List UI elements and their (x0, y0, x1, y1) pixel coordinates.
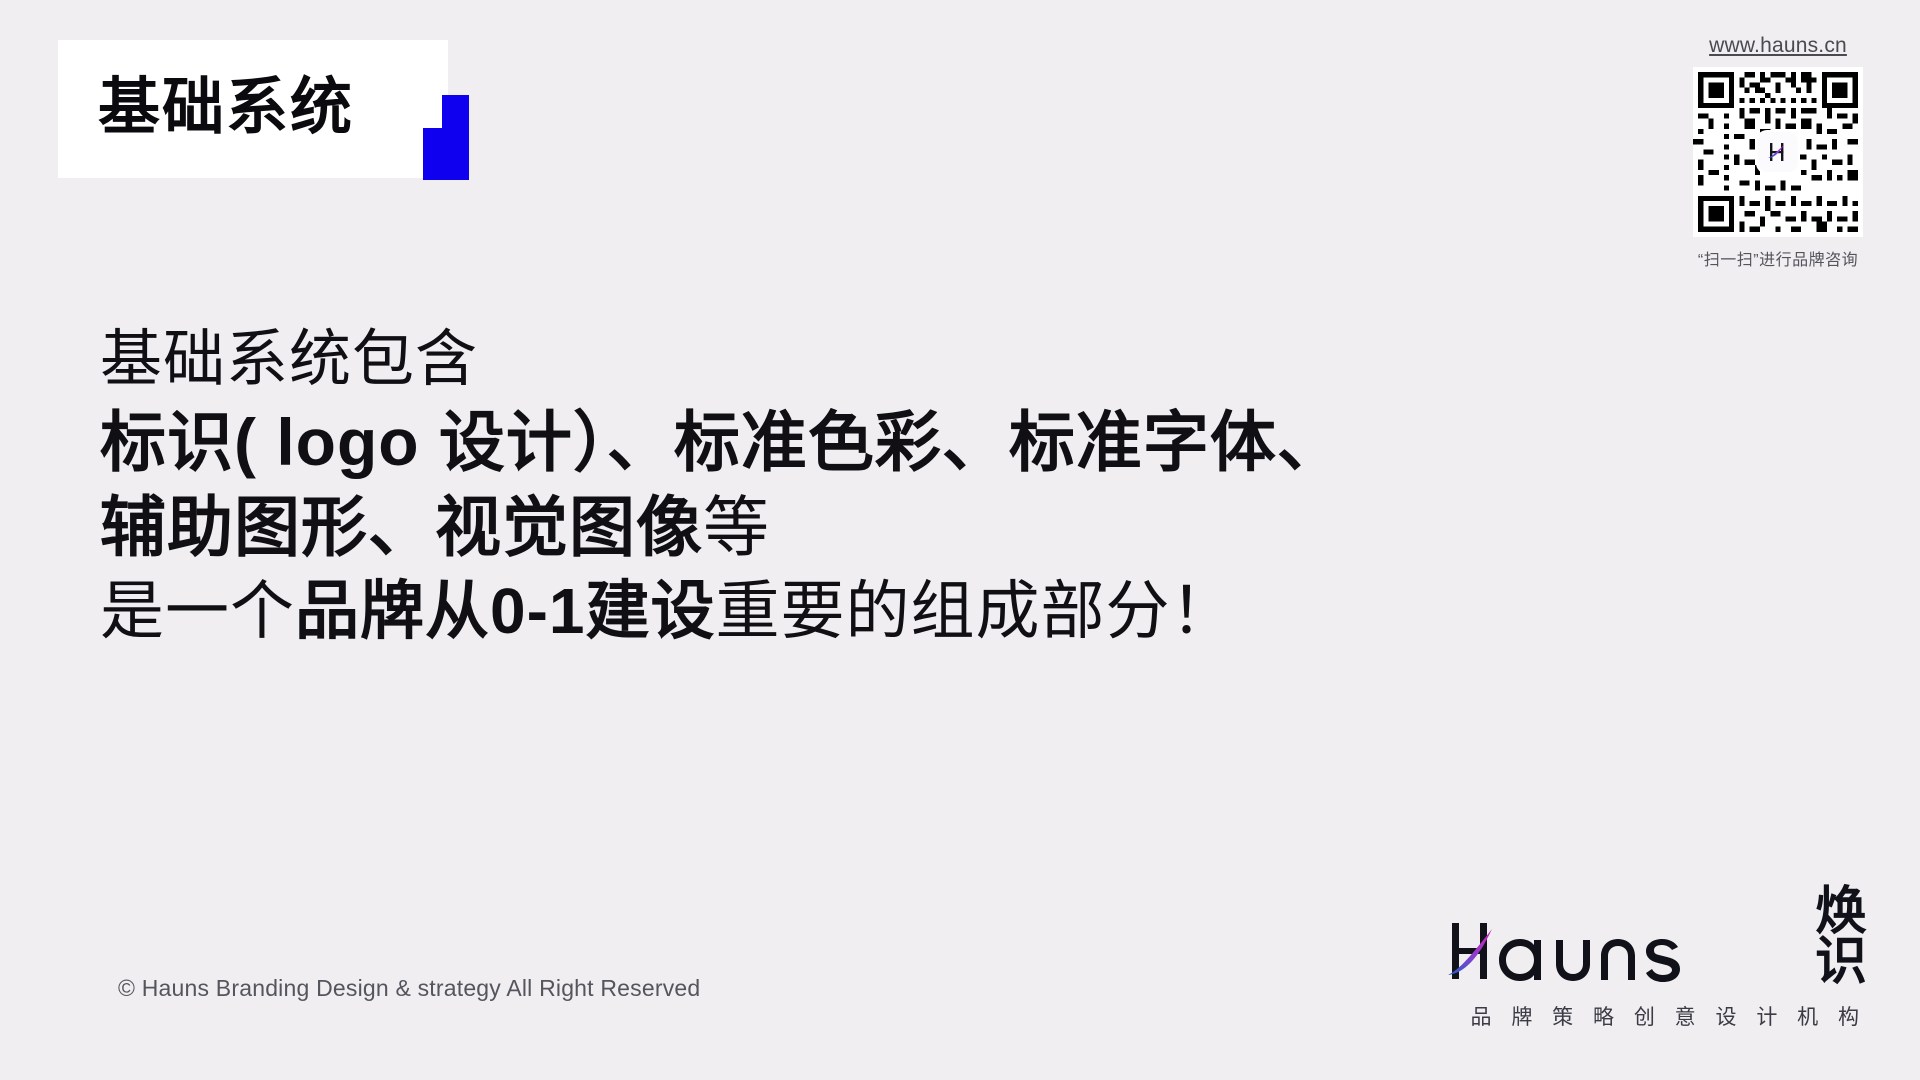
copy-line-2: 标识( logo 设计）、标准色彩、标准字体、 (100, 400, 1820, 485)
copyright-text: © Hauns Branding Design & strategy All R… (118, 975, 700, 1002)
qr-block: www.hauns.cn (1688, 34, 1868, 270)
title-badge: 基础系统 (58, 40, 448, 178)
brand-tagline: 品 牌 策 略 创 意 设 计 机 构 (1448, 1001, 1868, 1031)
qr-caption: “扫一扫”进行品牌咨询 (1688, 246, 1868, 270)
brand-lockup: 焕识 品 牌 策 略 创 意 设 计 机 构 (1448, 888, 1868, 1031)
copy-line-4: 是一个品牌从0-1建设重要的组成部分！ (100, 570, 1820, 653)
copy-line-4-a: 是一个 (100, 575, 295, 647)
hauns-wordmark-icon (1448, 919, 1758, 988)
brand-name-cn: 焕识 (1768, 888, 1868, 988)
slide-canvas: 基础系统 www.hauns.cn (0, 0, 1920, 1080)
page-title: 基础系统 (98, 77, 354, 139)
qr-code-icon[interactable] (1693, 67, 1863, 237)
copy-line-4-b: 品牌从0-1建设 (295, 575, 716, 647)
copy-line-4-c: 重要的组成部分！ (716, 575, 1236, 647)
website-link[interactable]: www.hauns.cn (1688, 34, 1868, 58)
copy-line-1: 基础系统包含 (100, 320, 1820, 400)
body-copy: 基础系统包含 标识( logo 设计）、标准色彩、标准字体、 辅助图形、视觉图像… (100, 320, 1820, 653)
copy-line-3-bold: 辅助图形、视觉图像 (100, 490, 703, 564)
stepped-square-icon (423, 95, 469, 180)
copy-line-3: 辅助图形、视觉图像等 (100, 485, 1820, 570)
copy-line-3-rest: 等 (703, 490, 770, 564)
hauns-h-monogram-icon (1758, 132, 1798, 172)
